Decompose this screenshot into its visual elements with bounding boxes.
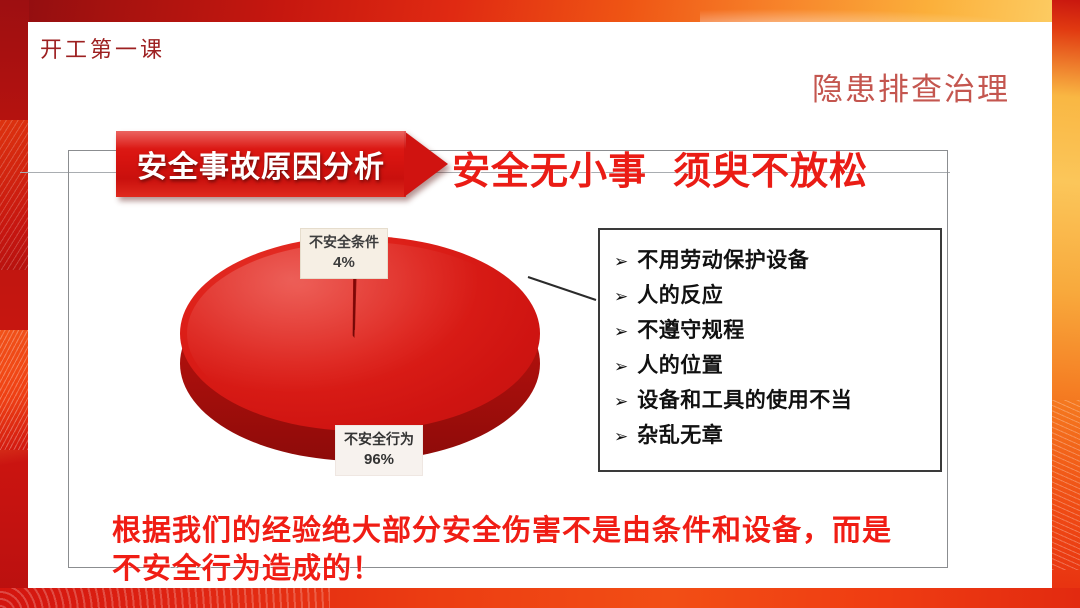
conclusion-text: 根据我们的经验绝大部分安全伤害不是由条件和设备，而是 不安全行为造成的！ [112,512,952,589]
causes-list: ➢ 不用劳动保护设备 ➢ 人的反应 ➢ 不遵守规程 ➢ 人的位置 ➢ 设备和工具… [598,228,942,472]
page-title: 隐患排查治理 [812,64,1010,109]
arrow-bullet-icon: ➢ [614,289,628,306]
left-band-ribbon-lower [0,330,29,450]
conclusion-line-1: 根据我们的经验绝大部分安全伤害不是由条件和设备，而是 [112,512,952,550]
arrow-bullet-icon: ➢ [614,429,628,446]
pie-label-unsafe-behavior-percent: 96% [344,451,414,470]
list-item: ➢ 设备和工具的使用不当 [614,384,930,414]
list-item: ➢ 不用劳动保护设备 [614,244,930,274]
pie-label-unsafe-behavior: 不安全行为 96% [335,425,423,476]
list-item-label: 不用劳动保护设备 [637,244,809,274]
list-item-label: 杂乱无章 [637,419,723,449]
arrow-tag-head-icon [404,131,448,197]
arrow-bullet-icon: ➢ [614,394,628,411]
pie-label-unsafe-behavior-name: 不安全行为 [344,431,414,447]
pie-label-unsafe-condition-percent: 4% [309,254,379,273]
pie-label-unsafe-condition: 不安全条件 4% [300,228,388,279]
arrow-bullet-icon: ➢ [614,254,628,271]
decorative-top-band [0,0,1080,23]
decorative-left-band [0,0,29,608]
bottom-band-fan-pattern [0,588,330,608]
list-item-label: 人的位置 [637,349,723,379]
arrow-bullet-icon: ➢ [614,324,628,341]
list-item-label: 设备和工具的使用不当 [637,384,852,414]
headline-part-right: 须臾不放松 [673,151,868,193]
pie-label-unsafe-condition-name: 不安全条件 [309,234,379,250]
right-band-sparkle [1052,400,1080,570]
list-item: ➢ 不遵守规程 [614,314,930,344]
headline-part-left: 安全无小事 [452,151,647,193]
decorative-bottom-band [0,588,1080,608]
section-arrow-tag: 安全事故原因分析 [116,131,446,197]
list-item-label: 不遵守规程 [637,314,745,344]
list-item: ➢ 杂乱无章 [614,419,930,449]
arrow-bullet-icon: ➢ [614,359,628,376]
conclusion-line-2: 不安全行为造成的！ [112,550,952,588]
left-band-ribbon-upper [0,120,29,270]
list-item: ➢ 人的位置 [614,349,930,379]
section-tag-label: 安全事故原因分析 [116,131,406,197]
section-headline: 安全无小事须臾不放松 [452,140,868,195]
decorative-right-band [1052,0,1080,608]
list-item-label: 人的反应 [637,279,723,309]
deck-kicker: 开工第一课 [40,32,165,64]
slide-canvas: 开工第一课 隐患排查治理 安全事故原因分析 安全无小事须臾不放松 不安全条件 4… [0,0,1080,608]
list-item: ➢ 人的反应 [614,279,930,309]
